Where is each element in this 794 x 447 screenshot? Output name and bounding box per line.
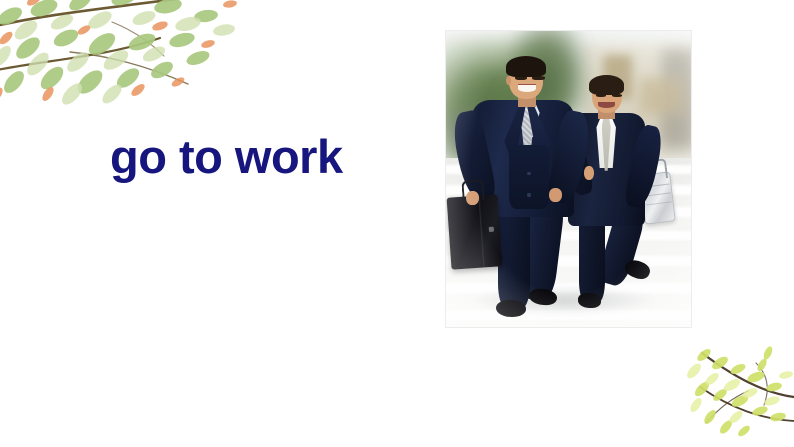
leafy-branch-top-left-icon — [0, 0, 292, 136]
slide-canvas: go to work — [0, 0, 794, 447]
front-businessman-hair — [506, 56, 546, 77]
front-businessman-waistcoat — [509, 145, 549, 209]
page-title: go to work — [110, 133, 343, 180]
businessmen-running-photo — [446, 31, 691, 327]
leafy-branch-bottom-right-icon — [644, 335, 794, 445]
front-businessman — [461, 55, 603, 321]
photo-frame — [446, 31, 691, 327]
